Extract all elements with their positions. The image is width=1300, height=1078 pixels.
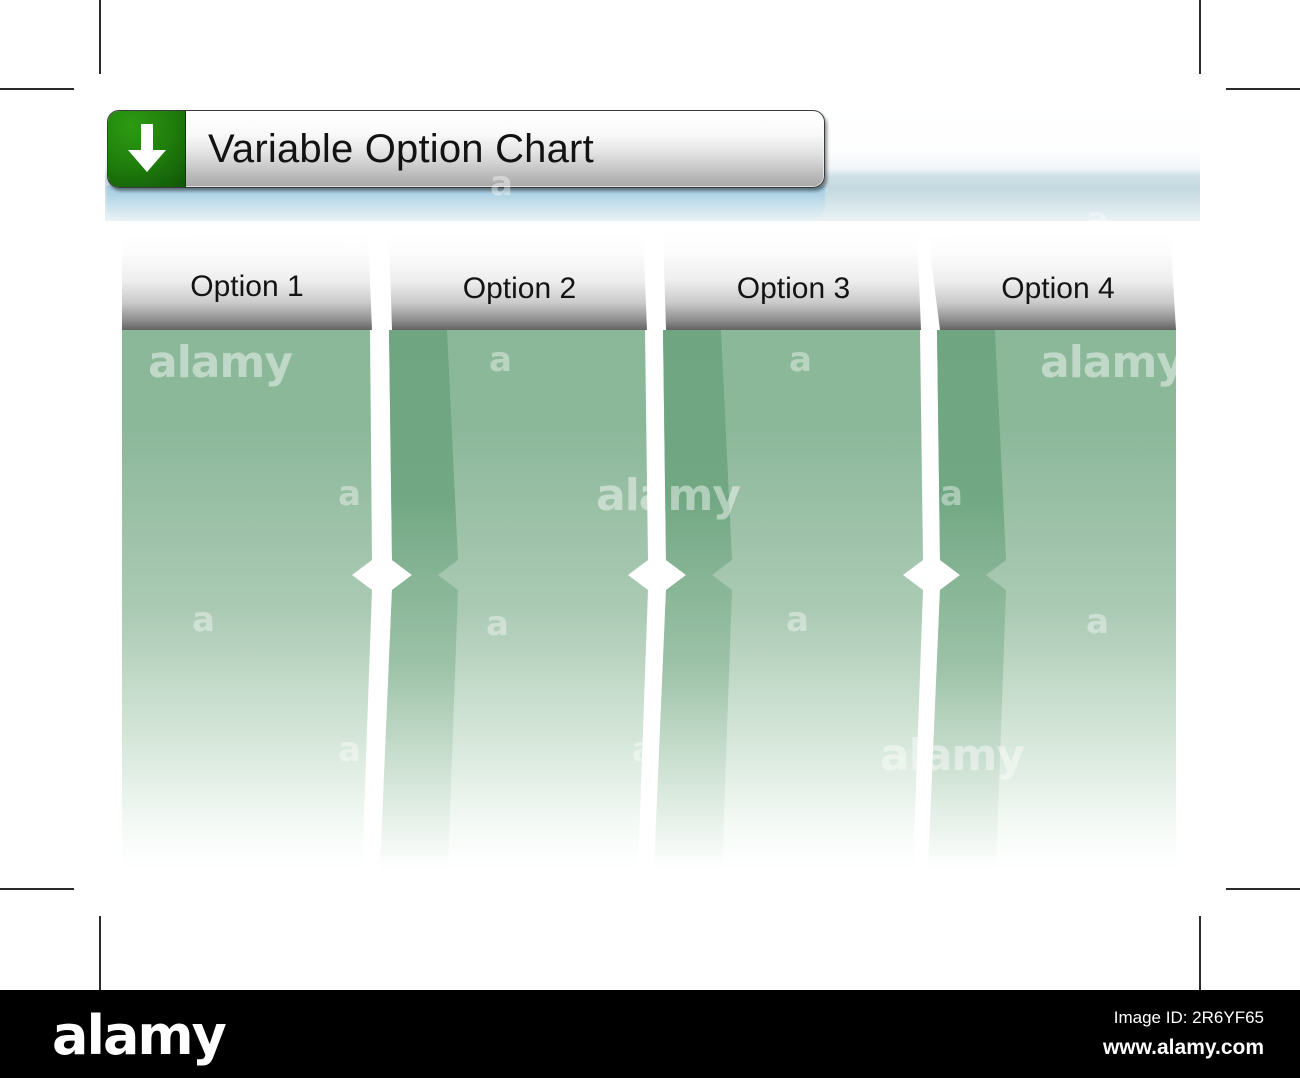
option-column-label-3: Option 3 [666,272,921,306]
option-column-label-4: Option 4 [940,272,1176,306]
alamy-logo: alamy [52,1004,225,1067]
column-chevron-3 [654,330,732,870]
option-column-1[interactable] [122,232,372,870]
option-columns-group [0,0,1300,990]
footer-bar: alamy Image ID: 2R6YF65 www.alamy.com [0,990,1300,1078]
footer-meta: Image ID: 2R6YF65 www.alamy.com [1103,1008,1264,1060]
column-chevron-4 [928,330,1006,870]
option-column-3[interactable] [654,231,923,870]
option-column-label-1: Option 1 [122,270,372,304]
option-column-label-2: Option 2 [392,272,647,306]
alamy-url[interactable]: www.alamy.com [1103,1036,1264,1060]
column-chevron-2 [380,330,458,870]
option-column-2[interactable] [380,232,648,870]
image-id-label: Image ID: 2R6YF65 [1103,1008,1264,1028]
artwork-canvas: Variable Option Chart [0,0,1300,1078]
option-column-4[interactable] [928,232,1176,870]
